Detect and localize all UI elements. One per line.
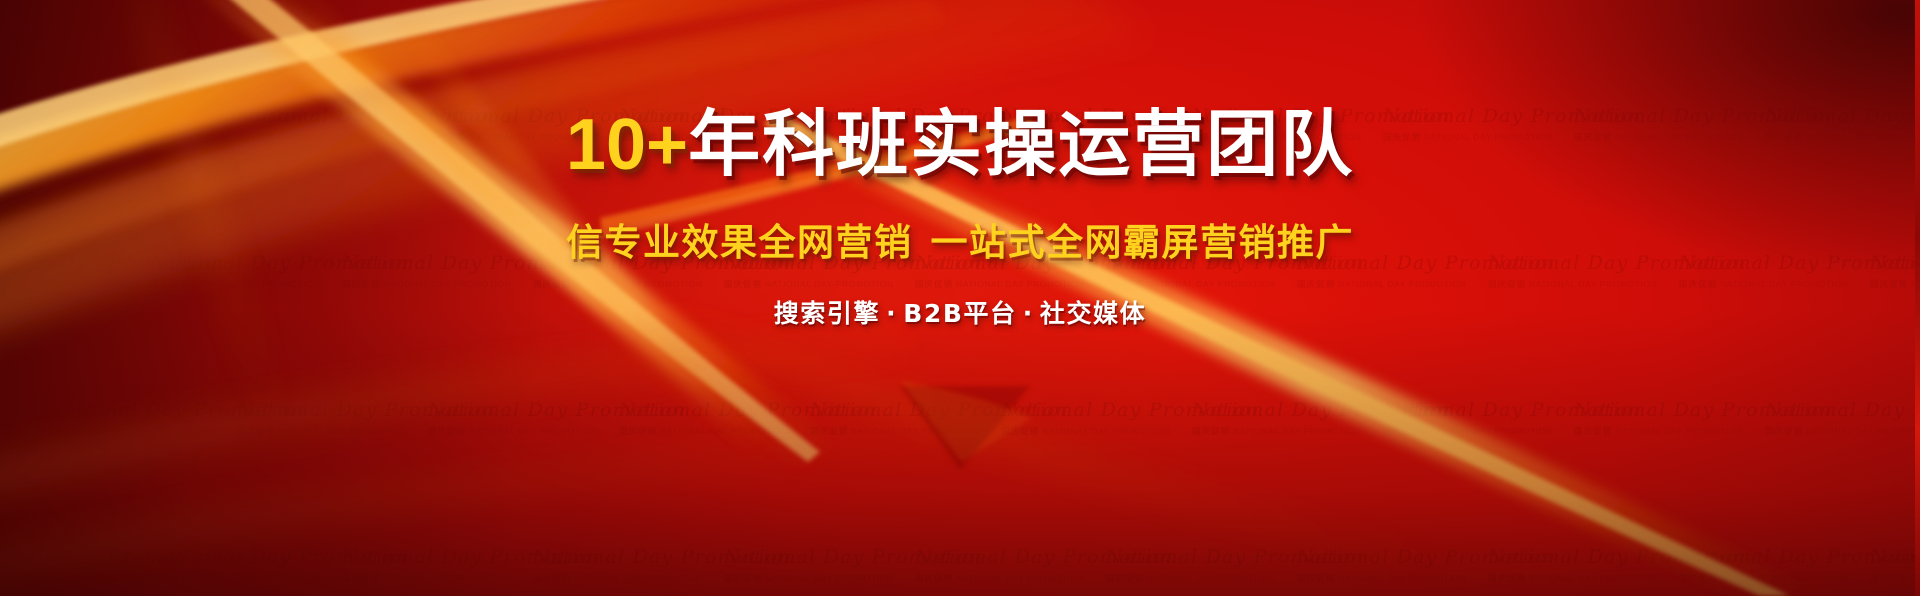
promotional-banner: National Day Promotion国庆促销 NATIONAL DAY …: [0, 0, 1920, 596]
right-edge-sliver: [1915, 0, 1920, 596]
background-shade-bottom: [0, 0, 1920, 596]
